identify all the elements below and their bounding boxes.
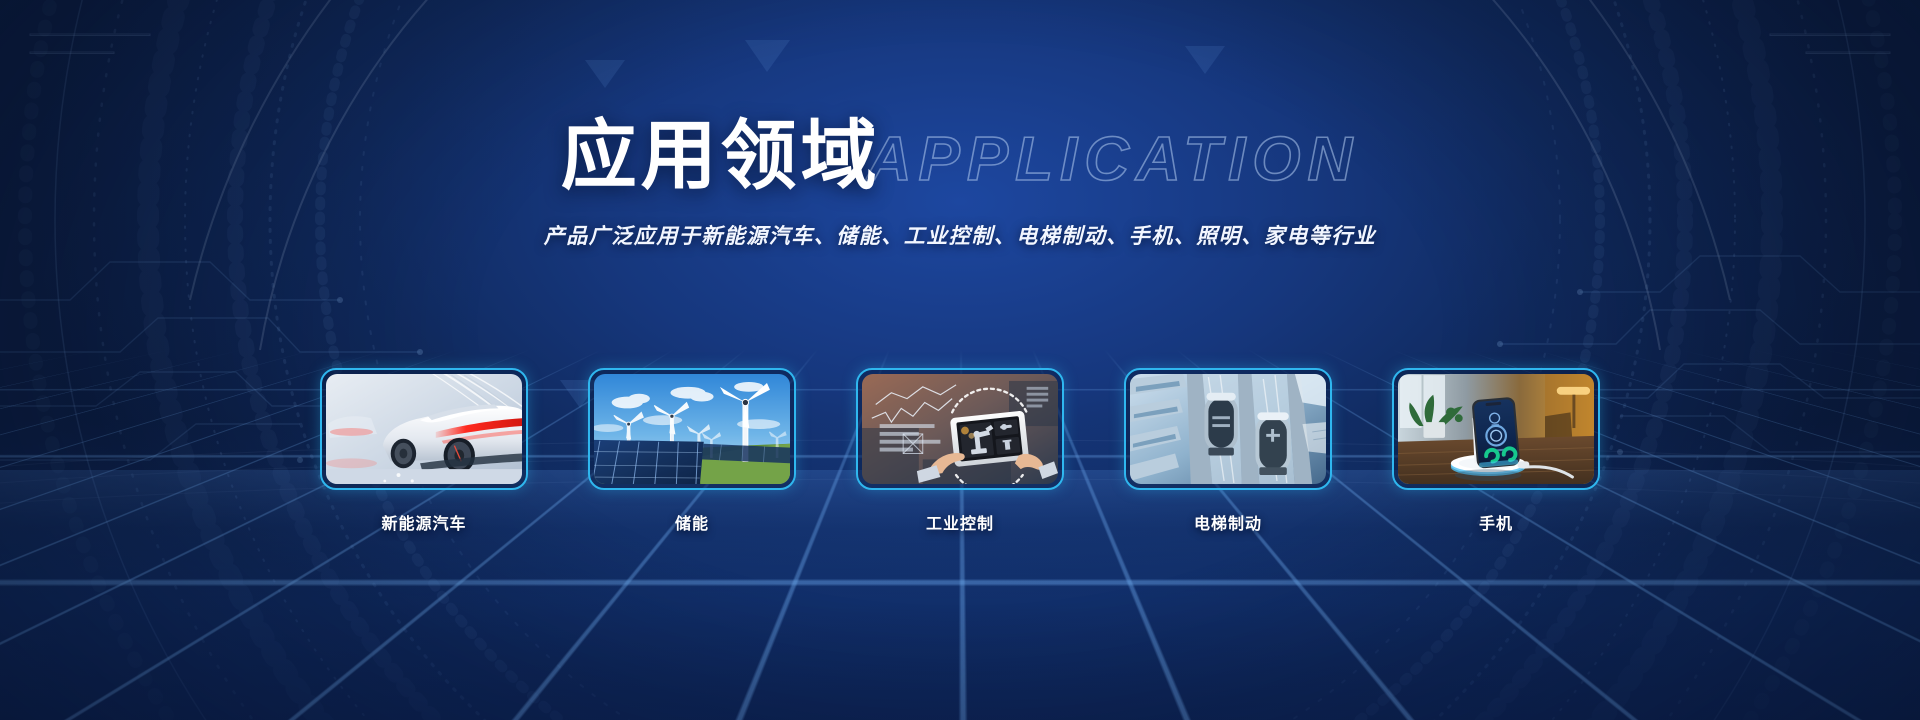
energy-storage-photo — [594, 374, 790, 484]
page-title: 应用领域 — [561, 118, 881, 194]
banner-heading: 应用领域APPLICATION 产品广泛应用于新能源汽车、储能、工业控制、电梯制… — [0, 118, 1920, 250]
application-card[interactable]: 储能 — [588, 368, 796, 534]
card-thumbnail-frame[interactable] — [1392, 368, 1600, 490]
card-label: 新能源汽车 — [381, 510, 466, 534]
application-banner: 应用领域APPLICATION 产品广泛应用于新能源汽车、储能、工业控制、电梯制… — [0, 0, 1920, 720]
page-subtitle: 产品广泛应用于新能源汽车、储能、工业控制、电梯制动、手机、照明、家电等行业 — [0, 220, 1920, 250]
title-row: 应用领域APPLICATION — [561, 118, 1360, 194]
dashed-arc-decoration — [10, 0, 1910, 720]
circuit-trace-decoration — [0, 0, 1920, 720]
application-card[interactable]: 电梯制动 — [1124, 368, 1332, 534]
card-label: 储能 — [675, 510, 709, 534]
new-energy-vehicle-photo — [326, 374, 522, 484]
application-card[interactable]: 工业控制 — [856, 368, 1064, 534]
light-streak-decoration — [0, 0, 1920, 720]
elevator-braking-photo — [1130, 374, 1326, 484]
card-thumbnail-frame[interactable] — [1124, 368, 1332, 490]
card-label: 手机 — [1479, 510, 1513, 534]
card-thumbnail-frame[interactable] — [588, 368, 796, 490]
card-thumbnail-frame[interactable] — [856, 368, 1064, 490]
industrial-control-photo — [862, 374, 1058, 484]
card-label: 电梯制动 — [1194, 510, 1262, 534]
application-card[interactable]: 新能源汽车 — [320, 368, 528, 534]
mobile-phone-photo — [1398, 374, 1594, 484]
page-title-english: APPLICATION — [867, 129, 1360, 191]
application-card[interactable]: 手机 — [1392, 368, 1600, 534]
application-card-list: 新能源汽车 — [0, 368, 1920, 534]
card-label: 工业控制 — [926, 510, 994, 534]
vignette-overlay — [0, 0, 1920, 720]
card-thumbnail-frame[interactable] — [320, 368, 528, 490]
